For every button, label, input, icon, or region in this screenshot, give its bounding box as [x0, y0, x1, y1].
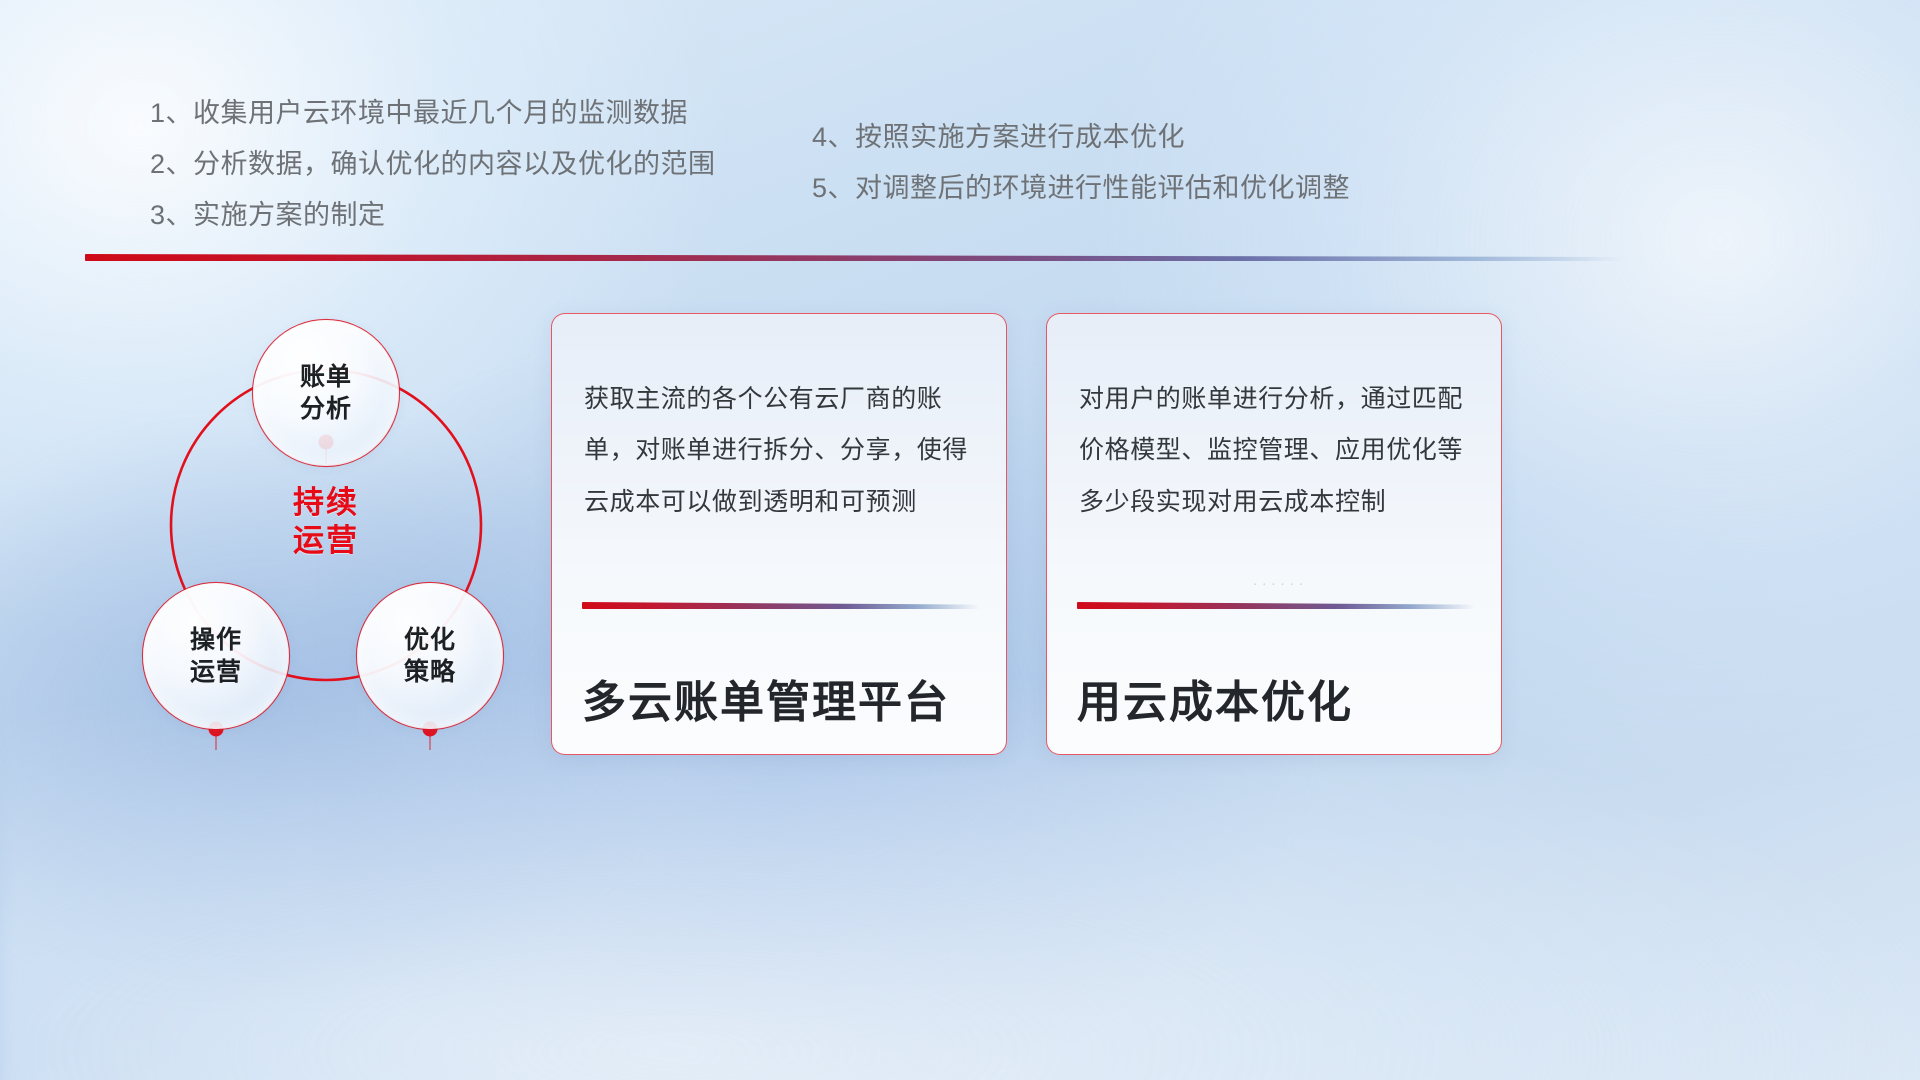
step-item-1: 1、收集用户云环境中最近几个月的监测数据 — [150, 100, 716, 127]
step-item-5: 5、对调整后的环境进行性能评估和优化调整 — [812, 175, 1350, 202]
card-cloud-cost-optimization[interactable]: 对用户的账单进行分析，通过匹配价格模型、监控管理、应用优化等多少段实现对用云成本… — [1046, 313, 1502, 755]
venn-bubble-label: 优化 策略 — [404, 624, 456, 689]
venn-label-line1: 账单 — [300, 361, 352, 394]
venn-center-label-line2: 运营 — [256, 522, 396, 560]
card-body-text: 获取主流的各个公有云厂商的账单，对账单进行拆分、分享，使得云成本可以做到透明和可… — [584, 374, 976, 528]
venn-bubble-optimization-policy[interactable]: 优化 策略 — [357, 583, 503, 729]
card-ellipsis: ...... — [1253, 572, 1308, 589]
venn-label-line1: 优化 — [404, 624, 456, 657]
venn-bubble-bill-analysis[interactable]: 账单 分析 — [253, 320, 399, 466]
step-item-4: 4、按照实施方案进行成本优化 — [812, 124, 1350, 151]
venn-center-label-line1: 持续 — [256, 484, 396, 522]
venn-bubble-label: 账单 分析 — [300, 361, 352, 426]
card-multi-cloud-billing-platform[interactable]: 获取主流的各个公有云厂商的账单，对账单进行拆分、分享，使得云成本可以做到透明和可… — [551, 313, 1007, 755]
venn-bubble-label: 操作 运营 — [190, 624, 242, 689]
card-body-text: 对用户的账单进行分析，通过匹配价格模型、监控管理、应用优化等多少段实现对用云成本… — [1079, 374, 1471, 528]
card-title: 用云成本优化 — [1077, 666, 1353, 730]
steps-left-column: 1、收集用户云环境中最近几个月的监测数据 2、分析数据，确认优化的内容以及优化的… — [150, 100, 716, 253]
steps-right-column: 4、按照实施方案进行成本优化 5、对调整后的环境进行性能评估和优化调整 — [812, 124, 1350, 226]
venn-diagram: 账单 分析 操作 运营 优化 策略 持续 运营 — [78, 288, 548, 763]
venn-label-line2: 运营 — [190, 656, 242, 689]
card-divider-line — [1077, 602, 1475, 609]
venn-label-line1: 操作 — [190, 624, 242, 657]
venn-bubble-operation-ops[interactable]: 操作 运营 — [143, 583, 289, 729]
card-divider-line — [582, 602, 980, 609]
step-item-3: 3、实施方案的制定 — [150, 202, 716, 229]
venn-center-label: 持续 运营 — [256, 484, 396, 560]
venn-label-line2: 策略 — [404, 656, 456, 689]
card-title: 多云账单管理平台 — [582, 666, 950, 730]
venn-label-line2: 分析 — [300, 393, 352, 426]
step-item-2: 2、分析数据，确认优化的内容以及优化的范围 — [150, 151, 716, 178]
